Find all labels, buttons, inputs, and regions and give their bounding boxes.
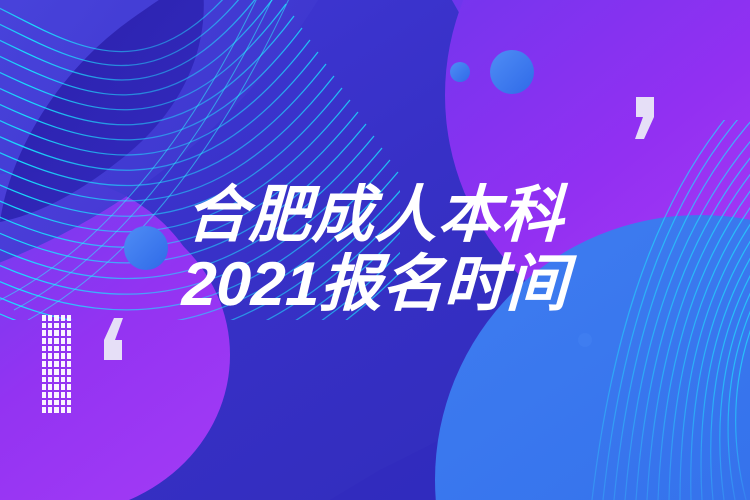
dot xyxy=(54,392,58,398)
dot xyxy=(61,392,65,398)
dot xyxy=(42,346,46,352)
dot xyxy=(61,338,65,344)
dot xyxy=(42,392,46,398)
dot xyxy=(42,361,46,367)
dot xyxy=(48,330,52,336)
background-artwork xyxy=(0,0,750,500)
dot xyxy=(54,377,58,383)
dot xyxy=(48,384,52,390)
dot xyxy=(67,384,71,390)
dot xyxy=(42,400,46,406)
tiny-circle-right xyxy=(578,333,592,347)
dot xyxy=(42,407,46,413)
dot xyxy=(61,400,65,406)
dot xyxy=(48,369,52,375)
dot xyxy=(67,353,71,359)
dot xyxy=(61,407,65,413)
dot xyxy=(61,369,65,375)
dot xyxy=(67,346,71,352)
dot xyxy=(42,338,46,344)
dot xyxy=(42,384,46,390)
dot xyxy=(61,315,65,321)
promo-banner: 合肥成人本科 2021报名时间 xyxy=(0,0,750,500)
dot xyxy=(54,384,58,390)
dot xyxy=(67,315,71,321)
dot xyxy=(48,400,52,406)
dot xyxy=(42,330,46,336)
dot xyxy=(54,330,58,336)
dot xyxy=(54,369,58,375)
dot xyxy=(48,323,52,329)
dot xyxy=(67,407,71,413)
dot xyxy=(48,361,52,367)
dot xyxy=(61,346,65,352)
dot xyxy=(48,392,52,398)
dot xyxy=(67,377,71,383)
dot xyxy=(54,323,58,329)
dot xyxy=(67,338,71,344)
dot xyxy=(54,346,58,352)
mid-circle-left xyxy=(124,226,168,270)
dot xyxy=(67,400,71,406)
large-circle-top xyxy=(490,50,534,94)
dot-grid-decoration xyxy=(42,315,71,413)
dot xyxy=(42,377,46,383)
dot xyxy=(42,369,46,375)
dot xyxy=(48,346,52,352)
dot xyxy=(54,400,58,406)
dot xyxy=(67,323,71,329)
dot xyxy=(48,353,52,359)
dot xyxy=(54,407,58,413)
dot xyxy=(42,353,46,359)
dot xyxy=(42,323,46,329)
dot xyxy=(54,315,58,321)
dot xyxy=(61,323,65,329)
dot xyxy=(61,384,65,390)
dot xyxy=(61,377,65,383)
dot xyxy=(67,361,71,367)
dot xyxy=(48,407,52,413)
dot xyxy=(67,330,71,336)
dot xyxy=(54,338,58,344)
dot xyxy=(67,392,71,398)
dot xyxy=(54,353,58,359)
small-circle-top xyxy=(450,62,470,82)
dot xyxy=(61,361,65,367)
dot xyxy=(48,377,52,383)
dot xyxy=(67,369,71,375)
dot xyxy=(61,353,65,359)
dot xyxy=(42,315,46,321)
dot xyxy=(54,361,58,367)
dot xyxy=(48,315,52,321)
dot xyxy=(61,330,65,336)
dot xyxy=(48,338,52,344)
